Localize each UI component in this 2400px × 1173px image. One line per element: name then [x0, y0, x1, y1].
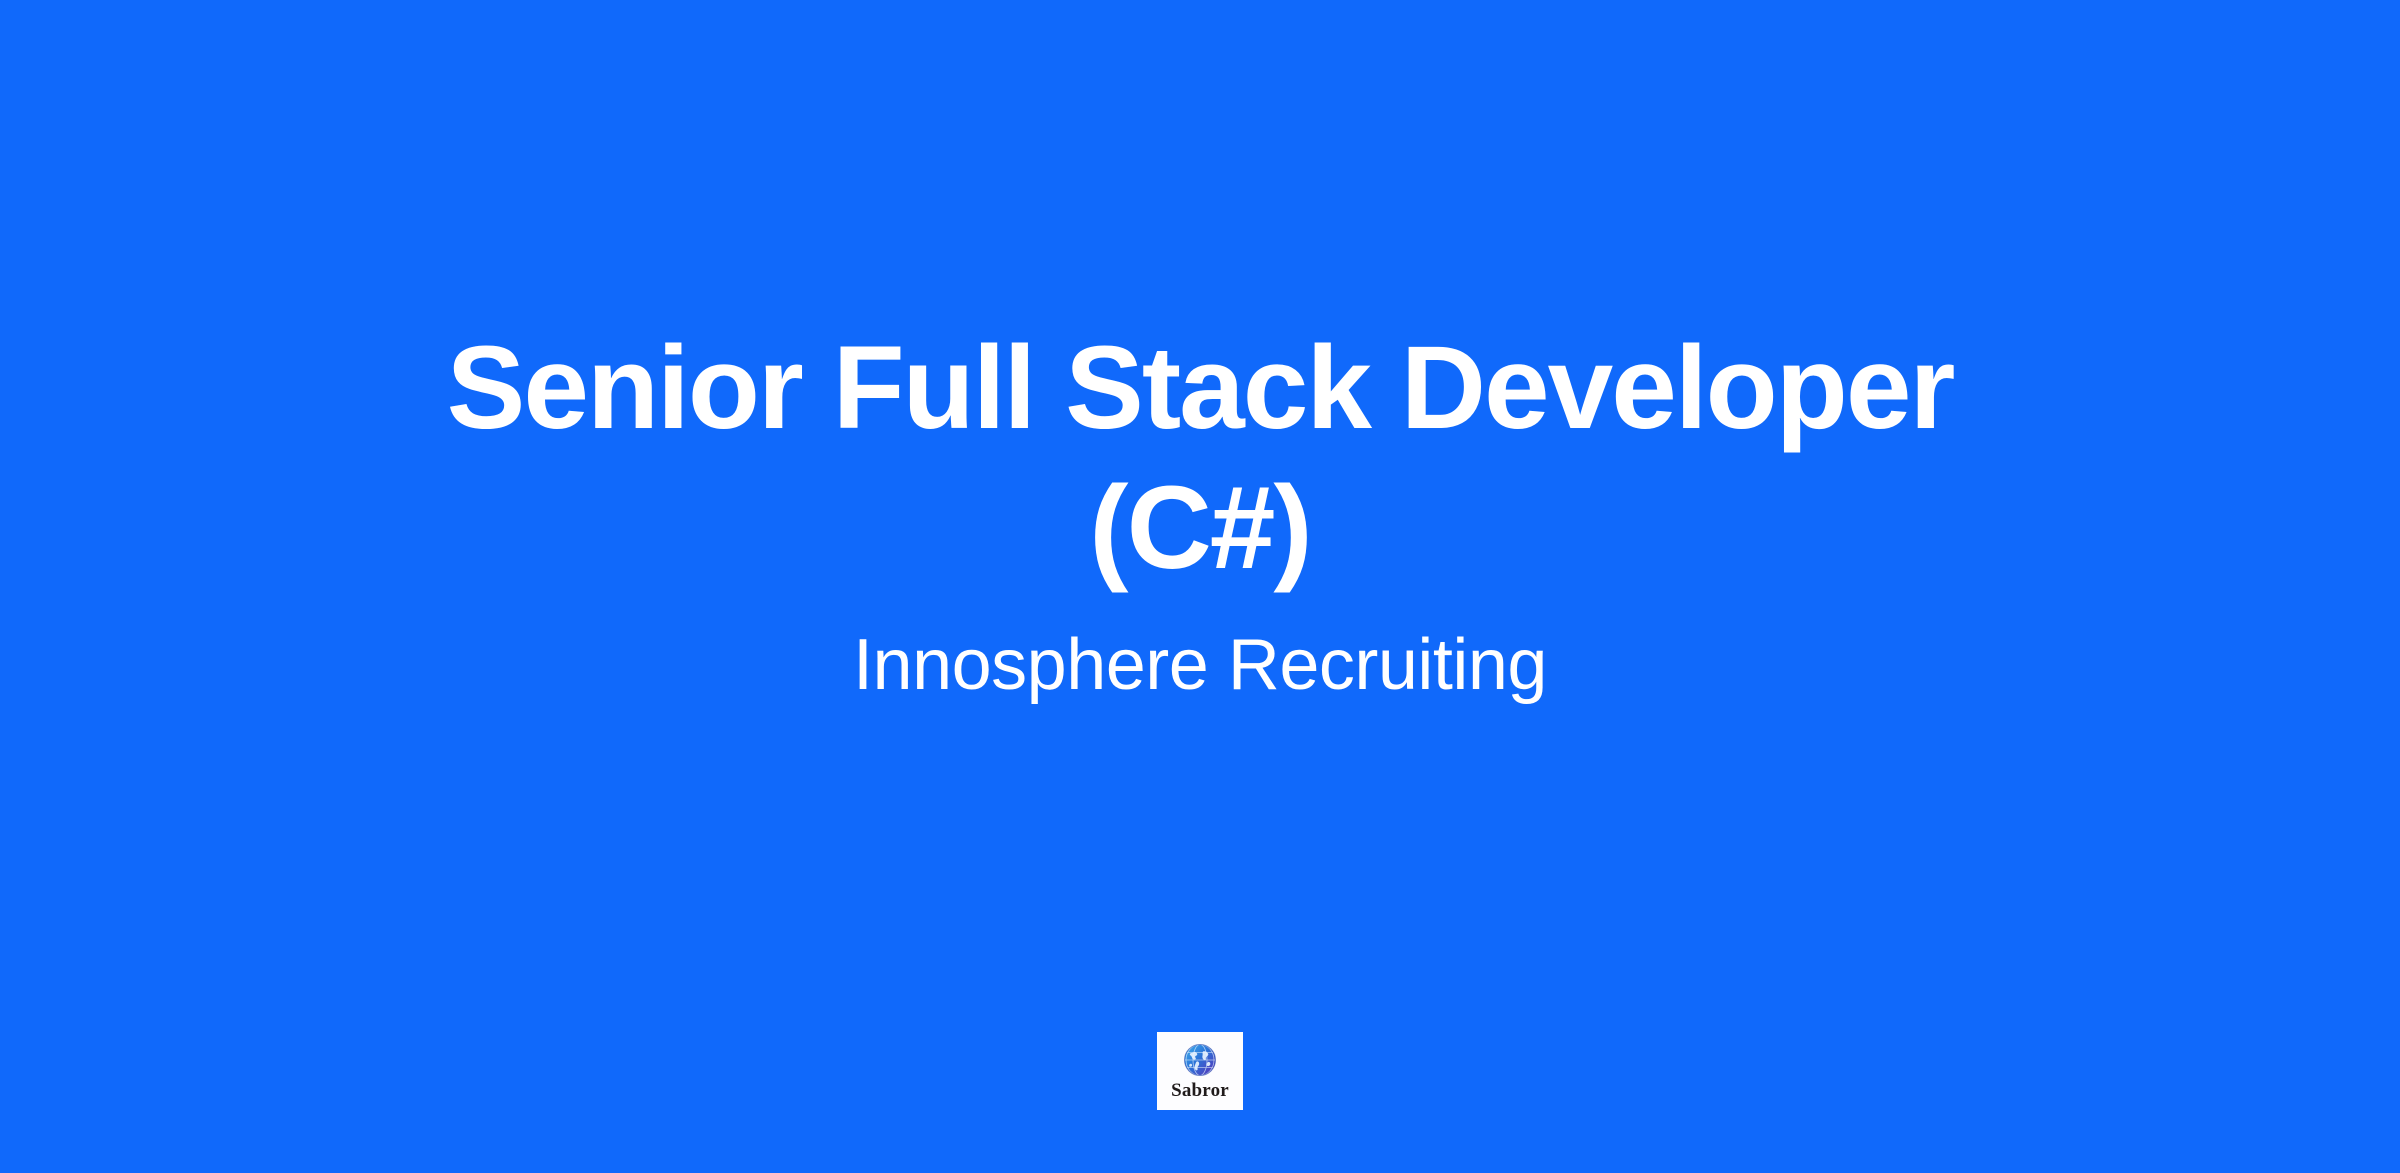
company-logo: Sabror — [1157, 1032, 1243, 1110]
page-title: Senior Full Stack Developer (C#) — [420, 318, 1980, 598]
logo-wordmark: Sabror — [1171, 1080, 1229, 1101]
job-posting-slide: Senior Full Stack Developer (C#) Innosph… — [0, 0, 2400, 1173]
company-name: Innosphere Recruiting — [420, 622, 1980, 708]
hero-section: Senior Full Stack Developer (C#) Innosph… — [420, 318, 1980, 708]
globe-icon — [1182, 1042, 1218, 1078]
